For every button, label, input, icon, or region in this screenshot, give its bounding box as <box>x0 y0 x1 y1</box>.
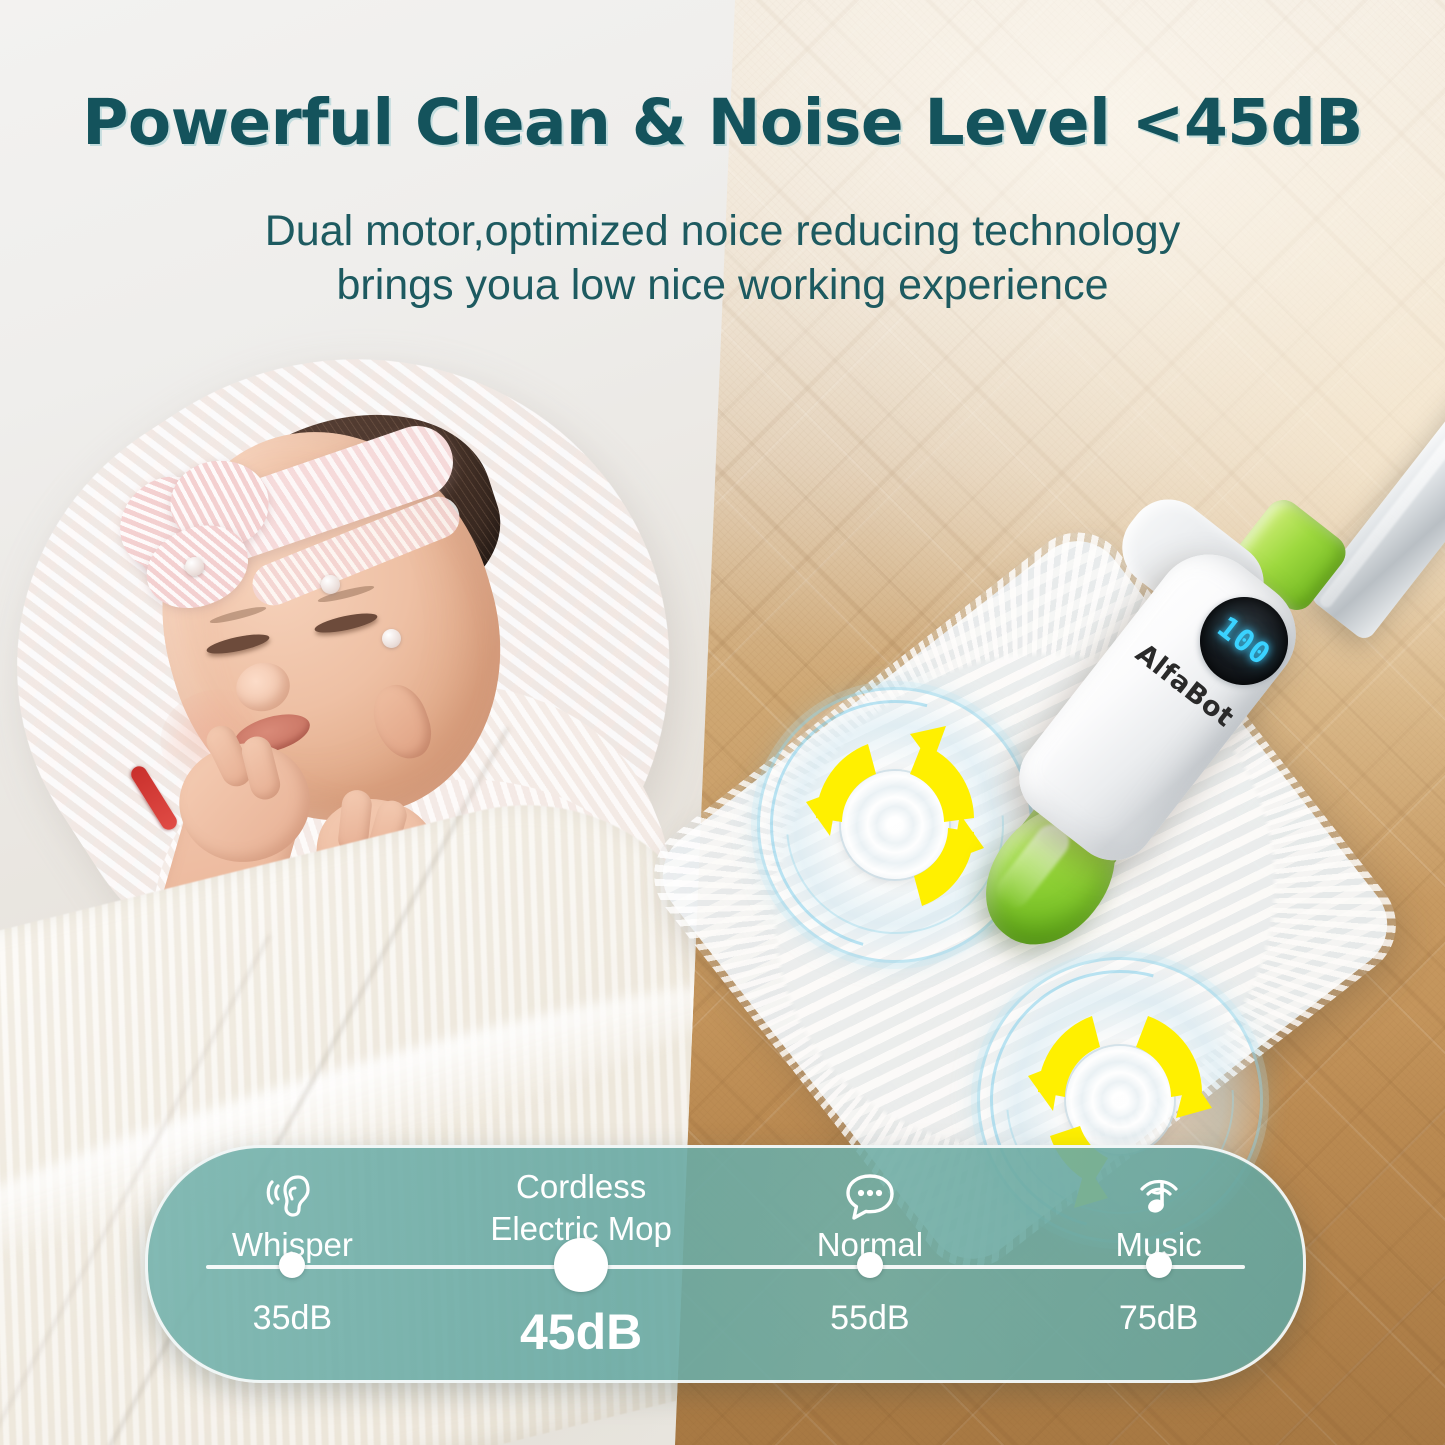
headband-pearl <box>185 557 204 576</box>
noise-level-scale: Whisper 35dB Cordless Electric Mop 45dB <box>145 1145 1306 1383</box>
scale-marker <box>857 1252 883 1278</box>
product-feature-banner: 100 AlfaBot Powerful Clean & Noise Level… <box>0 0 1445 1445</box>
scale-value-active: 45dB <box>520 1303 642 1361</box>
spinning-mop-disc-left <box>760 690 1030 960</box>
page-title: Powerful Clean & Noise Level <45dB <box>0 86 1445 159</box>
scale-value: 75dB <box>1119 1299 1198 1338</box>
subtitle-line-1: Dual motor,optimized noice reducing tech… <box>0 205 1445 259</box>
scale-item-normal: Normal 55dB <box>726 1148 1015 1380</box>
headband-pearl <box>321 575 340 594</box>
scale-value: 55dB <box>830 1299 909 1338</box>
page-subtitle: Dual motor,optimized noice reducing tech… <box>0 205 1445 313</box>
scale-marker <box>279 1252 305 1278</box>
scale-item-whisper: Whisper 35dB <box>148 1148 437 1380</box>
music-note-icon <box>1132 1168 1186 1226</box>
scale-item-music: Music 75dB <box>1014 1148 1303 1380</box>
scale-marker-active <box>554 1238 608 1292</box>
product-label-line-1: Cordless <box>490 1166 672 1208</box>
headband-pearl <box>382 629 401 648</box>
battery-display-value: 100 <box>1211 610 1278 673</box>
ear-listening-icon <box>265 1168 319 1226</box>
rotation-arrows-left <box>760 690 1030 960</box>
speech-bubble-icon <box>842 1168 898 1226</box>
scale-item-product: Cordless Electric Mop 45dB <box>437 1148 726 1380</box>
subtitle-line-2: brings youa low nice working experience <box>0 259 1445 313</box>
scale-value: 35dB <box>253 1299 332 1338</box>
scale-marker <box>1146 1252 1172 1278</box>
